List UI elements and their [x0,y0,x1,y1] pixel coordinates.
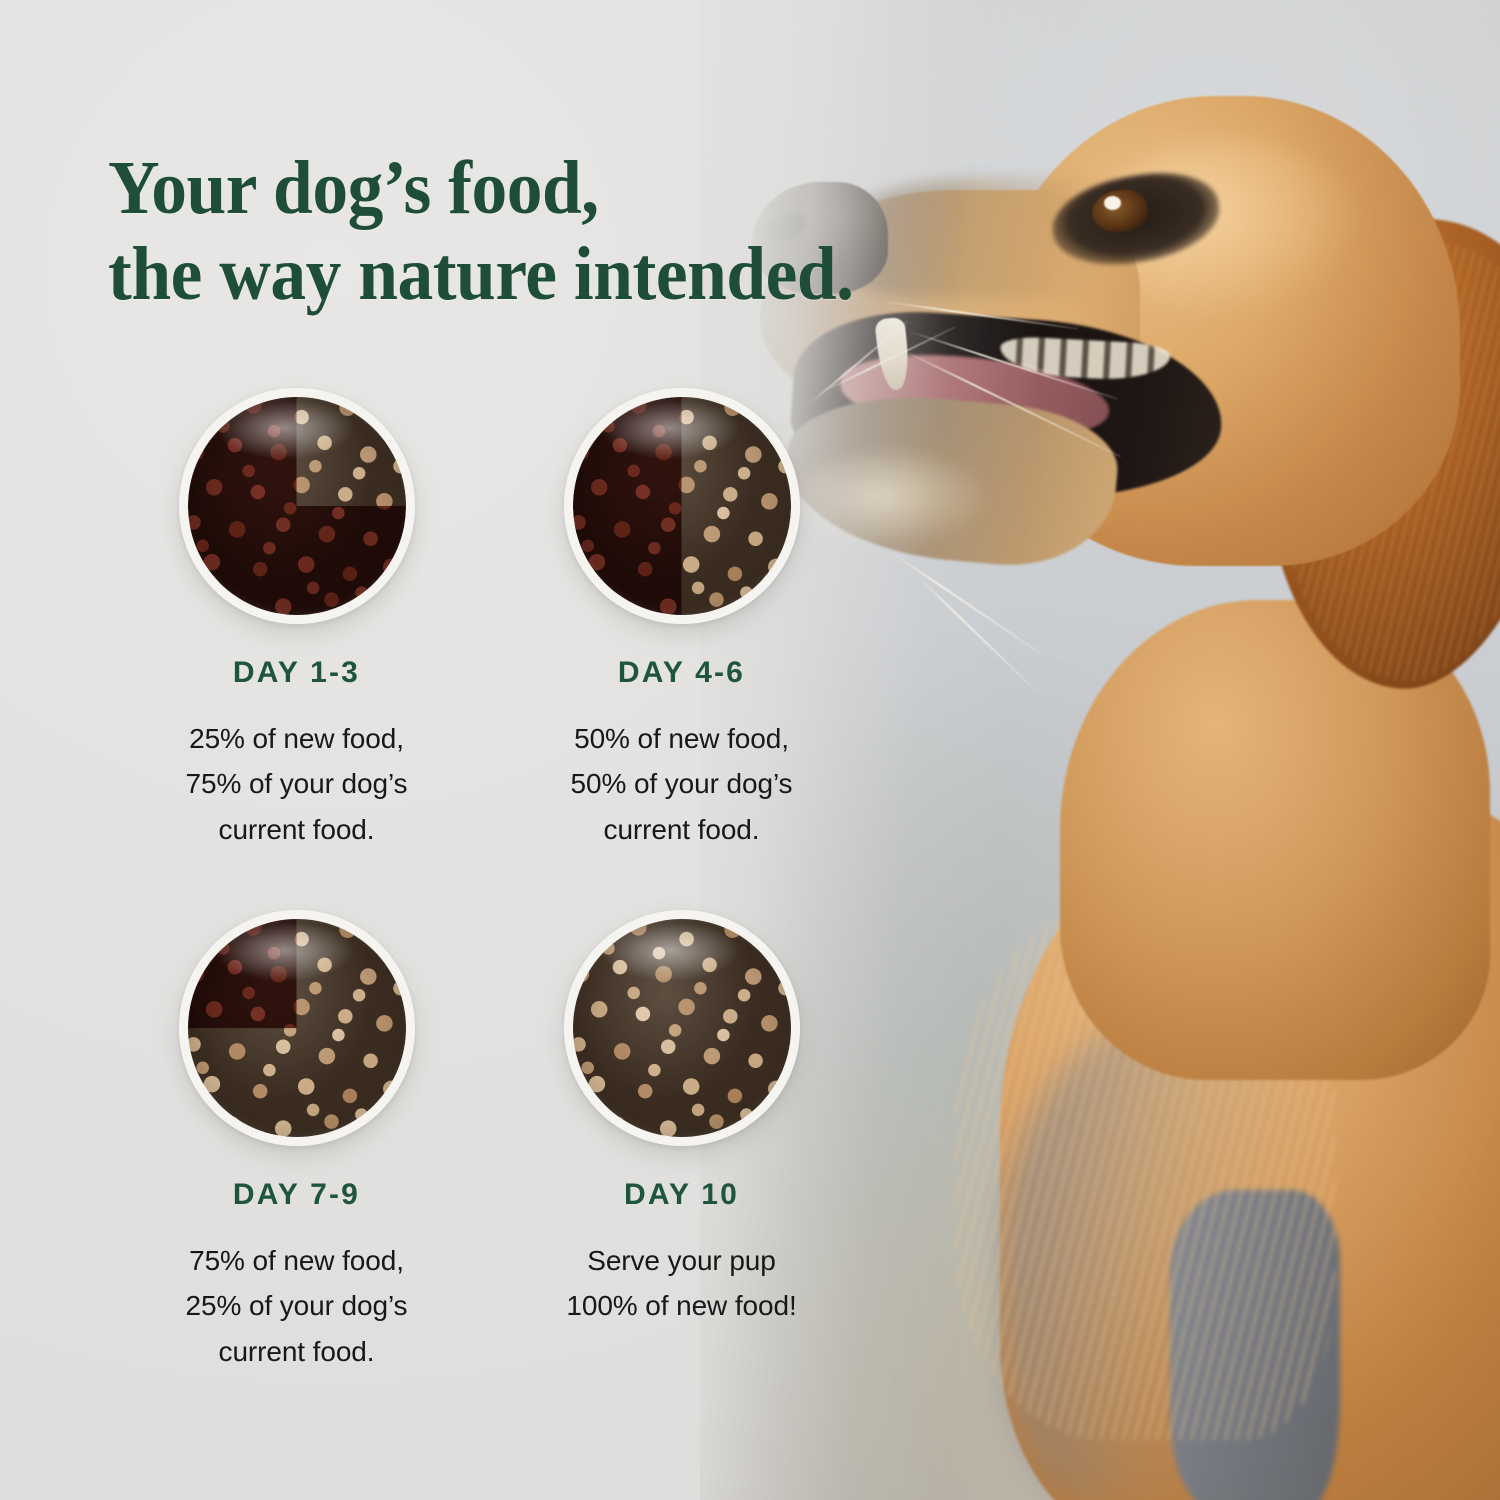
bowl-contents [188,395,406,617]
row-spacer [104,852,904,910]
steps-row-2: DAY 7-9 75% of new food, 25% of your dog… [104,910,904,1374]
bowl-contents [573,395,791,617]
whisker [913,572,1037,692]
bowl-day-4-6 [564,388,800,624]
new-food-kibble [188,917,406,1139]
bowl-day-1-3 [179,388,415,624]
new-food-kibble [573,917,791,1139]
bowl-contents [188,917,406,1139]
bowl-day-10 [564,910,800,1146]
step-title: DAY 4-6 [618,656,745,690]
bowl-day-7-9 [179,910,415,1146]
step-title: DAY 7-9 [233,1178,360,1212]
transition-guide-graphic: Your dog’s food, the way nature intended… [0,0,1500,1500]
step-description: Serve your pup 100% of new food! [566,1238,796,1329]
bowl-contents [573,917,791,1139]
step-description: 25% of new food, 75% of your dog’s curre… [186,716,408,852]
step-day-7-9: DAY 7-9 75% of new food, 25% of your dog… [104,910,489,1374]
dog-eye-highlight [1104,196,1121,210]
steps-row-1: DAY 1-3 25% of new food, 75% of your dog… [104,388,904,852]
new-food-kibble [573,395,791,617]
step-description: 75% of new food, 25% of your dog’s curre… [186,1238,408,1374]
transition-steps: DAY 1-3 25% of new food, 75% of your dog… [104,388,904,1374]
step-title: DAY 10 [624,1178,739,1212]
step-day-10: DAY 10 Serve your pup 100% of new food! [489,910,874,1374]
step-title: DAY 1-3 [233,656,360,690]
page-title: Your dog’s food, the way nature intended… [108,146,1048,318]
step-day-1-3: DAY 1-3 25% of new food, 75% of your dog… [104,388,489,852]
step-day-4-6: DAY 4-6 50% of new food, 50% of your dog… [489,388,874,852]
new-food-kibble [188,395,406,617]
step-description: 50% of new food, 50% of your dog’s curre… [571,716,793,852]
